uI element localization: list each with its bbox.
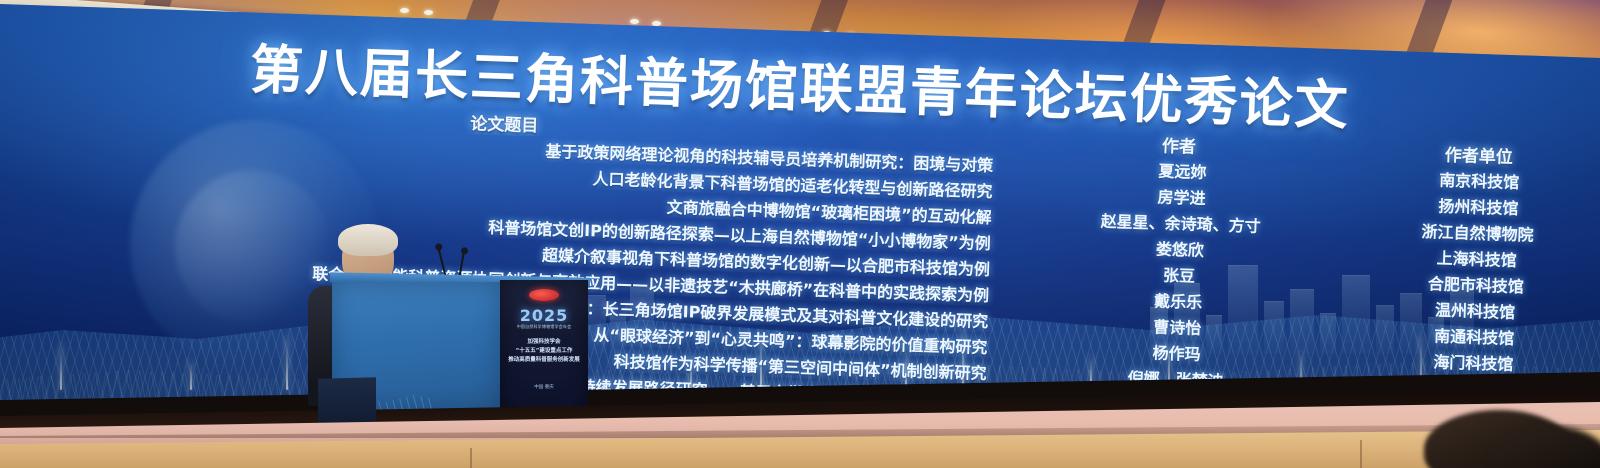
lectern-main-text: 加强科技学会“十五五”建设重点工作推动高质量科普服务创新发展	[504, 338, 584, 365]
event-logo-icon	[529, 289, 559, 301]
paper-award-table: 论文题目 作者 作者单位 基于政策网络理论视角的科技辅导员培养机制研究：困境与对…	[0, 94, 1600, 400]
ceiling-light-spot	[424, 10, 433, 15]
stage-panel-seam	[470, 448, 472, 468]
lectern-signage-panel: 2025 中国自然科学博物馆学会年会 加强科技学会“十五五”建设重点工作推动高质…	[500, 280, 588, 421]
lectern-location: 中国·重庆	[500, 384, 588, 390]
ceiling-light-spot	[400, 8, 409, 13]
stage-panel-seam	[1360, 440, 1362, 468]
ceiling-light-spot	[630, 19, 639, 24]
speaker-hair	[338, 224, 398, 256]
conference-stage-photo: 第八届长三角科普场馆联盟青年论坛优秀论文 论文题目 作者 作者单位 基于政策网络…	[0, 0, 1600, 468]
lectern-subtitle: 中国自然科学博物馆学会年会	[504, 324, 584, 330]
ceiling-light-spot	[652, 21, 661, 26]
slide-content: 第八届长三角科普场馆联盟青年论坛优秀论文 论文题目 作者 作者单位 基于政策网络…	[0, 0, 1600, 400]
led-wall-screen: 第八届长三角科普场馆联盟青年论坛优秀论文 论文题目 作者 作者单位 基于政策网络…	[0, 0, 1600, 400]
lectern-year: 2025	[500, 306, 588, 325]
